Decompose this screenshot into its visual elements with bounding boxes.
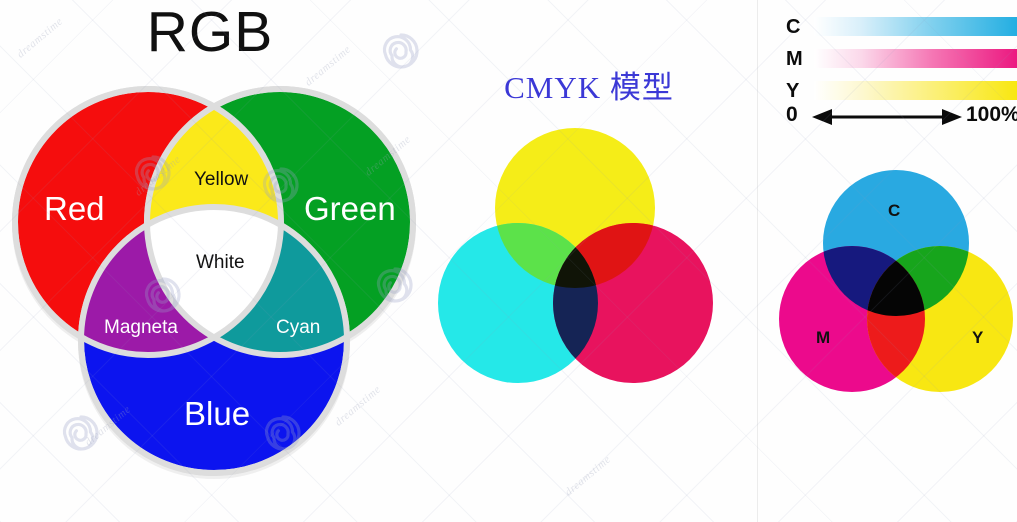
rgb-panel: RGB xyxy=(0,0,420,522)
rgb-venn-svg xyxy=(8,72,420,512)
legend-bar-yellow xyxy=(814,81,1017,100)
legend-scale-min: 0 xyxy=(786,102,798,128)
cmy-panel: C M Y 0 100% xyxy=(758,0,1017,522)
cmy-venn-diagram: C M Y xyxy=(776,165,1016,415)
legend-row-magenta: M xyxy=(778,46,1017,72)
double-arrow-icon xyxy=(812,108,962,126)
cmy-venn-svg xyxy=(776,165,1016,415)
legend-bar-cyan xyxy=(814,17,1017,36)
cmyk-title: CMYK 模型 xyxy=(420,72,758,103)
panel-divider xyxy=(757,0,758,522)
color-models-figure: RGB xyxy=(0,0,1017,522)
legend-bar-magenta xyxy=(814,49,1017,68)
legend-scale: 0 100% xyxy=(778,102,1017,130)
cmy-gradient-legend: C M Y 0 100% xyxy=(778,10,1017,128)
legend-row-cyan: C xyxy=(778,14,1017,40)
cmyk-venn-diagram xyxy=(430,120,720,410)
rgb-venn-diagram: Red Green Blue Yellow White Magneta Cyan xyxy=(8,72,420,512)
legend-letter-m: M xyxy=(786,47,810,71)
legend-row-yellow: Y xyxy=(778,78,1017,104)
cmyk-panel: CMYK 模型 xyxy=(420,0,758,522)
legend-letter-y: Y xyxy=(786,79,810,103)
legend-letter-c: C xyxy=(786,15,810,39)
cmyk-venn-svg xyxy=(430,120,720,410)
rgb-title: RGB xyxy=(0,4,420,61)
legend-scale-max: 100% xyxy=(966,102,1017,128)
